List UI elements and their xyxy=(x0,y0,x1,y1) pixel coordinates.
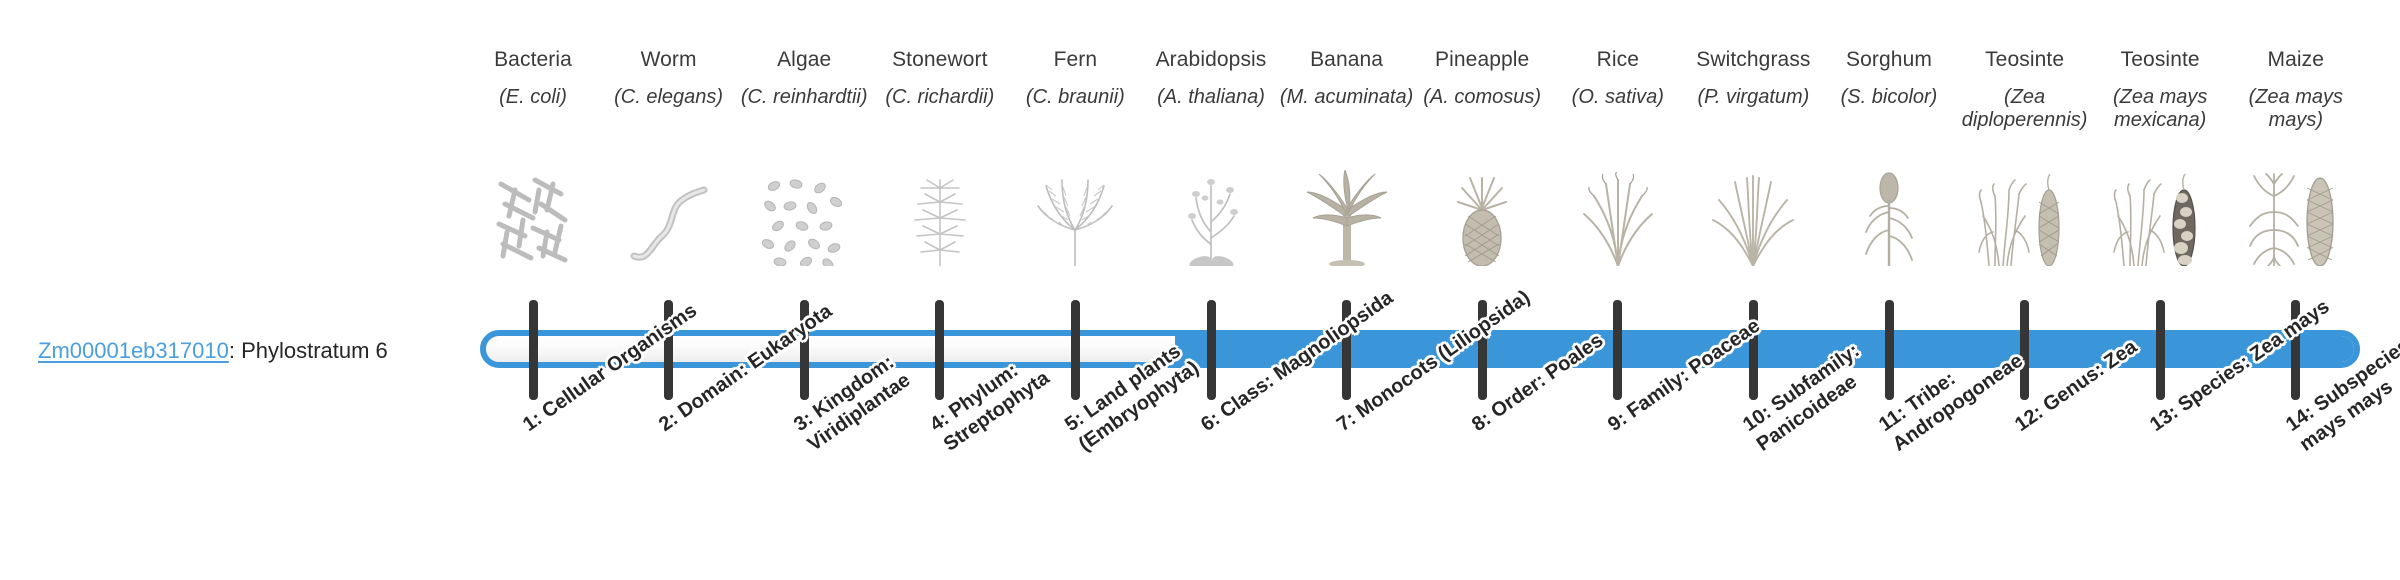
phylostratum-rank-label-1: 1: Cellular Organisms xyxy=(519,286,721,437)
phylostratum-rank-label-14: 14: Subspecies: Zea mays mays xyxy=(2282,286,2400,457)
rank-number: 12: xyxy=(2011,398,2052,436)
rank-number: 7: xyxy=(1333,405,1365,436)
phylostratum-rank-label-10: 10: Subfamily: Panicoideae xyxy=(1739,286,1954,457)
phylostratum-rank-label-5: 5: Land plants (Embryophyta) xyxy=(1061,286,1276,457)
phylostratum-rank-label-12: 12: Genus: Zea xyxy=(2011,286,2213,437)
rank-number: 4: xyxy=(926,405,958,436)
rank-text: Species: Zea mays xyxy=(2174,296,2333,417)
rank-text: Monocots (Liliopsida) xyxy=(1352,286,1534,423)
rank-number: 5: xyxy=(1061,405,1093,436)
rank-text: Genus: Zea xyxy=(2039,336,2141,416)
rank-number: 10: xyxy=(1739,398,1780,436)
rank-text: Phylum: Streptophyta xyxy=(939,359,1053,455)
phylostratum-rank-label-13: 13: Species: Zea mays xyxy=(2146,286,2348,437)
rank-text: Domain: Eukaryota xyxy=(674,300,836,423)
rank-number: 8: xyxy=(1468,405,1500,436)
rank-number: 14: xyxy=(2282,398,2323,436)
rank-number: 9: xyxy=(1604,405,1636,436)
rank-text: Subspecies: Zea mays mays xyxy=(2295,308,2400,456)
rank-text: Tribe: Andropogoneae xyxy=(1889,349,2027,455)
rank-number: 2: xyxy=(655,405,687,436)
phylostratum-rank-label-7: 7: Monocots (Liliopsida) xyxy=(1333,286,1535,437)
rank-text: Kingdom: Viridiplantae xyxy=(804,351,915,455)
phylostratum-rank-label-9: 9: Family: Poaceae xyxy=(1604,286,1806,437)
rank-text: Class: Magnoliopsida xyxy=(1216,287,1397,423)
phylostratum-widget: Zm00001eb317010: Phylostratum 6 Bacteria… xyxy=(0,0,2400,580)
phylostratum-rank-label-11: 11: Tribe: Andropogoneae xyxy=(1875,286,2090,457)
rank-number: 13: xyxy=(2146,398,2187,436)
rank-number: 1: xyxy=(519,405,551,436)
phylostratum-rank-label-2: 2: Domain: Eukaryota xyxy=(655,286,857,437)
rank-text: Cellular Organisms xyxy=(538,299,701,422)
rank-number: 11: xyxy=(1875,399,1915,436)
phylostratum-rank-label-8: 8: Order: Poales xyxy=(1468,286,1670,437)
phylostratum-rank-label-3: 3: Kingdom: Viridiplantae xyxy=(790,286,1005,457)
rank-text: Order: Poales xyxy=(1487,329,1607,422)
rank-text: Subfamily: Panicoideae xyxy=(1753,340,1864,456)
rank-number: 3: xyxy=(790,405,822,436)
rank-text: Family: Poaceae xyxy=(1623,315,1764,423)
rank-text: Land plants (Embryophyta) xyxy=(1075,340,1203,455)
phylostratum-rank-label-6: 6: Class: Magnoliopsida xyxy=(1197,286,1399,437)
phylostratum-rank-label-4: 4: Phylum: Streptophyta xyxy=(926,286,1141,457)
rank-number: 6: xyxy=(1197,405,1229,436)
phylostratum-rank-label-list: 1: Cellular Organisms2: Domain: Eukaryot… xyxy=(0,0,2400,580)
